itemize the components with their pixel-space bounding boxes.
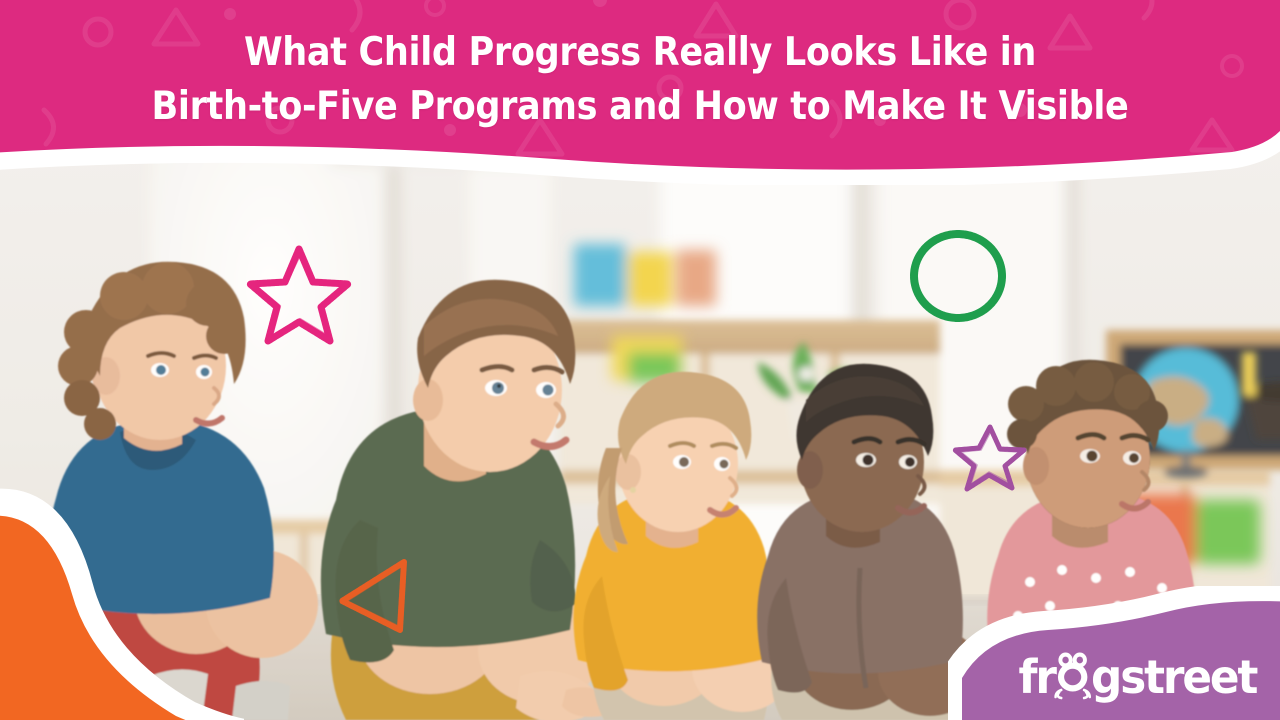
- frog-face-o-icon: [1054, 647, 1092, 693]
- page-title-line-2: Birth-to-Five Programs and How to Make I…: [64, 80, 1216, 134]
- page-title-line-1: What Child Progress Really Looks Like in: [64, 26, 1216, 80]
- logo-text-suffix: gstreet: [1091, 654, 1256, 700]
- logo-text-prefix: fr: [1018, 654, 1054, 700]
- frogstreet-logo: fr gstreet: [1018, 647, 1256, 700]
- page-title: What Child Progress Really Looks Like in…: [64, 26, 1216, 134]
- promo-graphic-canvas: What Child Progress Really Looks Like in…: [0, 0, 1280, 720]
